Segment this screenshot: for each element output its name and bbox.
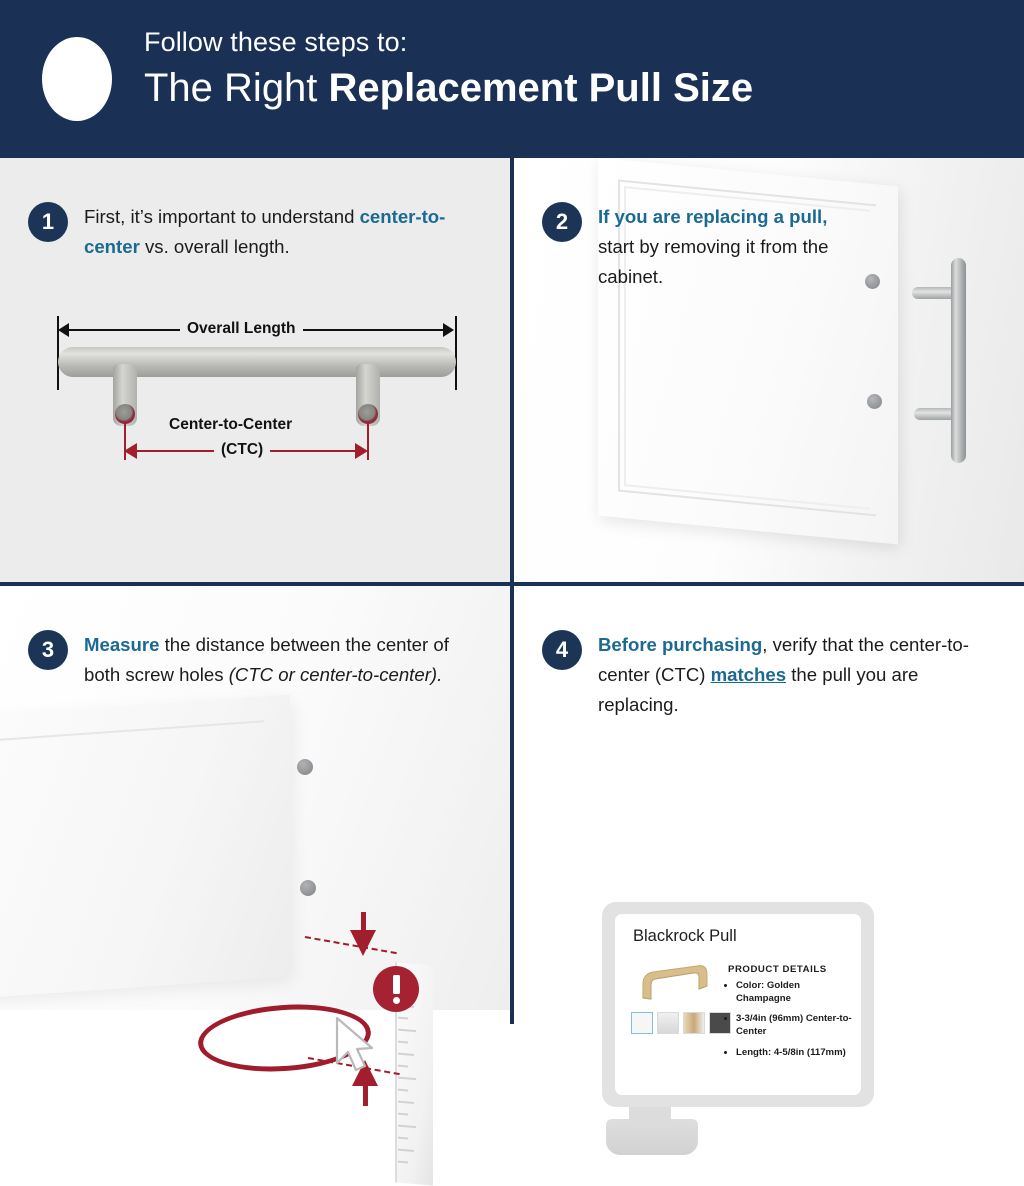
- step-4-text-accent: Before purchasing: [598, 634, 762, 655]
- steps-grid: 1 First, it’s important to understand ce…: [0, 158, 1024, 1024]
- pull-rod: [951, 258, 966, 463]
- product-thumbnail-1[interactable]: [631, 1012, 653, 1034]
- pull-diagram: Overall Length Center-to-Center (CTC): [46, 310, 466, 470]
- product-detail-length: Length: 4-5/8in (117mm): [736, 1047, 855, 1060]
- ctc-arrow-right-icon: [355, 443, 368, 459]
- step-1-heading: 1 First, it’s important to understand ce…: [28, 202, 454, 262]
- step-2-text: If you are replacing a pull, start by re…: [598, 202, 848, 292]
- exclamation-badge-icon: [373, 966, 419, 1012]
- product-image: [633, 958, 719, 1006]
- screw-hole-right-icon: [358, 404, 378, 424]
- step-number-1: 1: [28, 202, 68, 242]
- step-number-2: 2: [542, 202, 582, 242]
- product-detail-color: Color: Golden Champagne: [736, 980, 855, 1005]
- monitor-bezel: Blackrock Pull PRODUCT DETAILS Color: Go…: [602, 902, 874, 1107]
- screw-hole-left-icon: [115, 404, 135, 424]
- ctc-arrow-left-icon: [124, 443, 137, 459]
- vertical-divider: [510, 158, 514, 1024]
- step-2-text-rest: start by removing it from the cabinet.: [598, 236, 828, 287]
- step-3-text-italic: (CTC or center-to-center).: [229, 664, 443, 685]
- step-4-heading: 4 Before purchasing, verify that the cen…: [542, 630, 978, 720]
- step-1-text: First, it’s important to understand cent…: [84, 202, 454, 262]
- product-thumbnail-2[interactable]: [657, 1012, 679, 1034]
- measure-screw-hole-bottom-icon: [300, 880, 316, 896]
- overall-length-label: Overall Length: [180, 320, 303, 338]
- header-banner: Follow these steps to: The Right Replace…: [0, 0, 1024, 158]
- product-thumbnail-3[interactable]: [683, 1012, 705, 1034]
- step-panel-2: 2 If you are replacing a pull, start by …: [514, 158, 1024, 582]
- pull-post-left: [113, 364, 137, 426]
- screw-hole-bottom-icon: [867, 394, 882, 409]
- ctc-label-line1: Center-to-Center: [162, 416, 299, 434]
- overall-arrow-right-icon: [443, 323, 454, 337]
- product-thumbnails[interactable]: [631, 1012, 731, 1034]
- product-details-heading: PRODUCT DETAILS: [728, 964, 827, 975]
- overall-tick-right: [455, 316, 457, 390]
- step-3-text-accent: Measure: [84, 634, 159, 655]
- monitor-stand-base: [606, 1119, 698, 1155]
- ctc-label-line2: (CTC): [214, 441, 270, 459]
- step-panel-1: 1 First, it’s important to understand ce…: [0, 158, 510, 582]
- step-2-text-accent: If you are replacing a pull,: [598, 206, 827, 227]
- step-number-4: 4: [542, 630, 582, 670]
- step-1-text-part-1: First, it’s important to understand: [84, 206, 360, 227]
- measure-arrow-bottom-stem: [363, 1084, 368, 1106]
- step-number-3: 3: [28, 630, 68, 670]
- measure-door-inner-frame: [0, 720, 264, 972]
- header-title-bold: Replacement Pull Size: [329, 66, 754, 110]
- step-3-heading: 3 Measure the distance between the cente…: [28, 630, 454, 690]
- product-title: Blackrock Pull: [633, 927, 737, 946]
- measure-arrow-down-icon: [350, 930, 376, 956]
- header-title-light: The Right: [144, 66, 329, 110]
- screw-hole-top-icon: [865, 274, 880, 289]
- header-eyebrow: Follow these steps to:: [144, 26, 753, 58]
- overall-arrow-left-icon: [58, 323, 69, 337]
- horizontal-divider: [0, 582, 1024, 586]
- exclamation-icon: [42, 37, 112, 121]
- monitor-stand-neck: [629, 1105, 671, 1123]
- product-page-screen: Blackrock Pull PRODUCT DETAILS Color: Go…: [615, 914, 861, 1095]
- step-4-matches-link[interactable]: matches: [711, 664, 786, 685]
- step-2-heading: 2 If you are replacing a pull, start by …: [542, 202, 848, 292]
- header-title: The Right Replacement Pull Size: [144, 63, 753, 114]
- step-1-text-part-3: vs. overall length.: [140, 236, 290, 257]
- measure-cabinet-door: [0, 694, 290, 999]
- step-3-text: Measure the distance between the center …: [84, 630, 454, 690]
- pull-post-right: [356, 364, 380, 426]
- product-detail-ctc: 3-3/4in (96mm) Center-to-Center: [736, 1013, 855, 1038]
- header-text-block: Follow these steps to: The Right Replace…: [144, 26, 753, 115]
- step-4-text: Before purchasing, verify that the cente…: [598, 630, 978, 720]
- infographic-root: Follow these steps to: The Right Replace…: [0, 0, 1024, 1024]
- measure-screw-hole-top-icon: [297, 759, 313, 775]
